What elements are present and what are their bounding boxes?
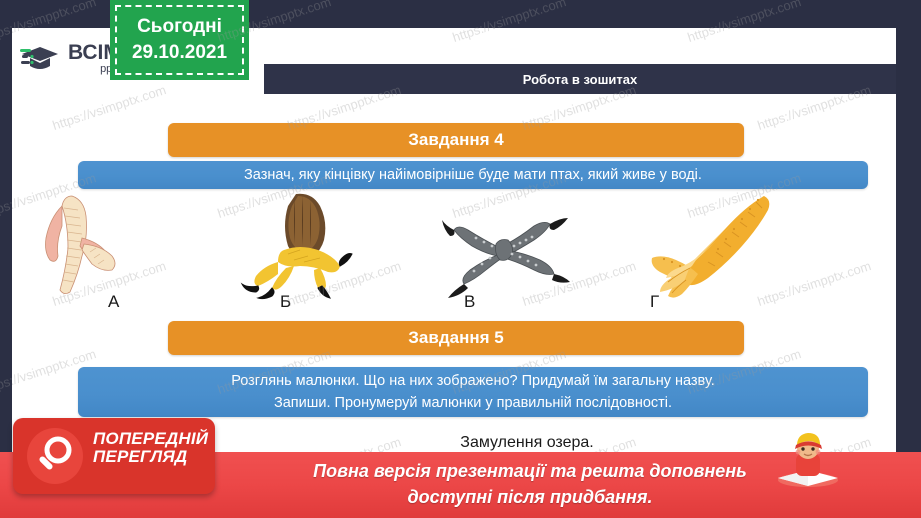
bird-foot-pink-chicken-icon[interactable] [32, 194, 128, 303]
purchase-banner-line-2: доступні після придбання. [408, 487, 653, 507]
task-5-instruction-line-2: Запиши. Пронумеруй малюнки у правильній … [274, 395, 672, 411]
today-label: Сьогодні [137, 14, 222, 40]
task-5-instruction: Розглянь малюнки. Що на них зображено? П… [78, 367, 868, 417]
preview-overlay-line-1: ПОПЕРЕДНІЙ [93, 430, 209, 448]
today-date-badge: Сьогодні 29.10.2021 [110, 0, 249, 80]
bird-foot-orange-webbed-icon[interactable] [638, 194, 778, 305]
bird-foot-label-a: А [108, 292, 119, 312]
today-date: 29.10.2021 [132, 40, 227, 66]
task-4-title: Завдання 4 [168, 123, 744, 157]
slide-canvas: ВСІМ pptx Робота в зошитах Завдання 4 За… [0, 0, 921, 518]
answer-text: Замулення озера. [282, 434, 772, 452]
purchase-banner-text: Повна версія презентації та решта доповн… [210, 458, 850, 510]
preview-overlay-text: ПОПЕРЕДНІЙ ПЕРЕГЛЯД [93, 430, 209, 466]
magnifier-icon [27, 428, 83, 484]
boy-with-book-icon [770, 424, 846, 490]
bird-foot-grey-perching-icon[interactable] [442, 216, 572, 305]
bird-foot-yellow-raptor-icon[interactable] [234, 192, 354, 305]
bird-foot-options: А [24, 194, 896, 314]
bird-foot-label-g: Г [650, 292, 659, 312]
task-5-title: Завдання 5 [168, 321, 744, 355]
purchase-banner-line-1: Повна версія презентації та решта доповн… [313, 461, 747, 481]
bird-foot-label-b: Б [280, 292, 291, 312]
bird-foot-label-v: В [464, 292, 475, 312]
task-5-instruction-line-1: Розглянь малюнки. Що на них зображено? П… [231, 373, 715, 389]
preview-overlay-badge: ПОПЕРЕДНІЙ ПЕРЕГЛЯД [13, 418, 215, 494]
task-4-instruction: Зазнач, яку кінцівку найімовірніше буде … [78, 161, 868, 189]
preview-overlay-line-2: ПЕРЕГЛЯД [93, 448, 209, 466]
slide-header-title: Робота в зошитах [264, 64, 896, 94]
graduation-cap-icon [20, 41, 64, 75]
